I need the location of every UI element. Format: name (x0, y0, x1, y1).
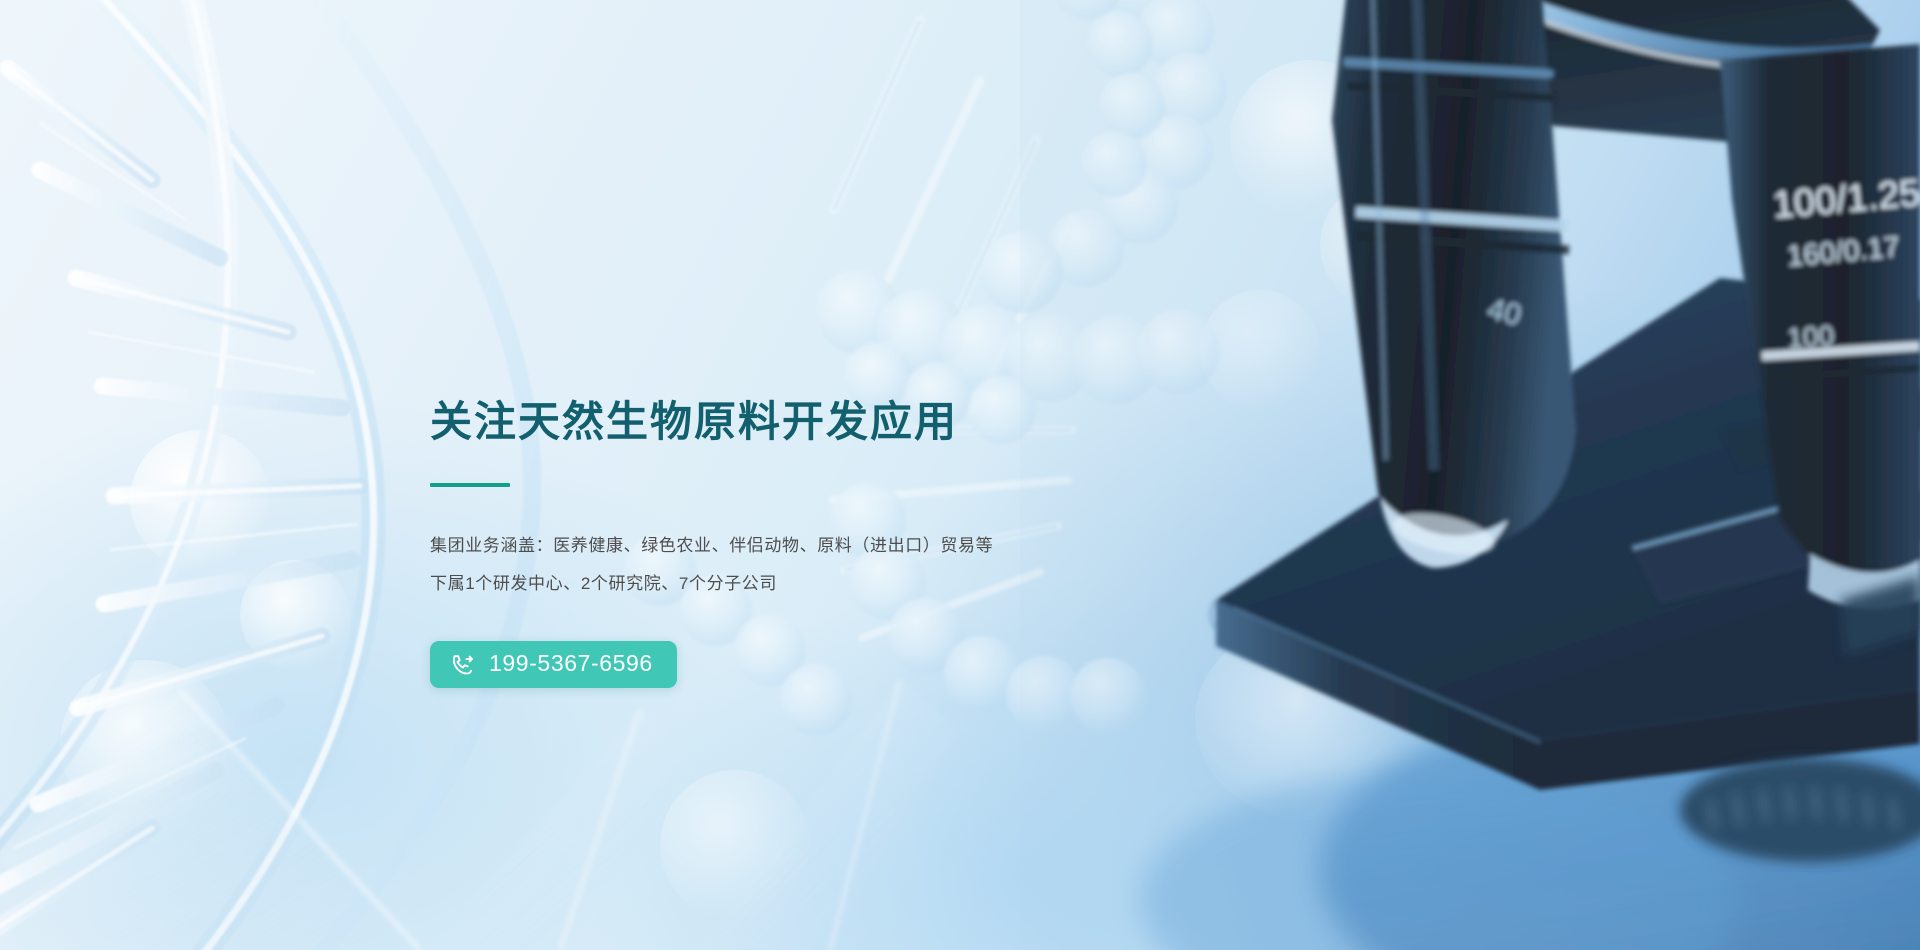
phone-forward-icon (450, 652, 476, 678)
page-title: 关注天然生物原料开发应用 (430, 398, 1150, 445)
title-divider (430, 483, 510, 487)
microscope-icon: 40 100/1.25 160/0.17 100 (1020, 0, 1920, 950)
bokeh-light-circle (1320, 180, 1450, 310)
phone-number-label: 199-5367-6596 (489, 652, 653, 677)
svg-text:100: 100 (1786, 320, 1835, 354)
bokeh-light-circle (1200, 290, 1320, 410)
svg-text:160/0.17: 160/0.17 (1786, 231, 1901, 273)
svg-text:40: 40 (1484, 293, 1524, 333)
hero-banner: 40 100/1.25 160/0.17 100 (0, 0, 1920, 950)
svg-text:100/1.25: 100/1.25 (1771, 172, 1920, 227)
hero-description-line-1: 集团业务涵盖：医养健康、绿色农业、伴侣动物、原料（进出口）贸易等 (430, 527, 1150, 565)
hero-description: 集团业务涵盖：医养健康、绿色农业、伴侣动物、原料（进出口）贸易等 下属1个研发中… (430, 527, 1150, 603)
bokeh-light-circle (1500, 380, 1680, 560)
bokeh-light-circle (1195, 620, 1425, 820)
bokeh-light-circle (130, 430, 270, 570)
hero-content: 关注天然生物原料开发应用 集团业务涵盖：医养健康、绿色农业、伴侣动物、原料（进出… (430, 398, 1150, 688)
bokeh-light-circle (60, 660, 230, 830)
bokeh-light-circle (660, 770, 810, 920)
bokeh-light-circle (240, 560, 350, 670)
phone-cta-button[interactable]: 199-5367-6596 (430, 641, 677, 688)
hero-description-line-2: 下属1个研发中心、2个研究院、7个分子公司 (430, 565, 1150, 603)
bokeh-light-circle (1230, 60, 1390, 220)
